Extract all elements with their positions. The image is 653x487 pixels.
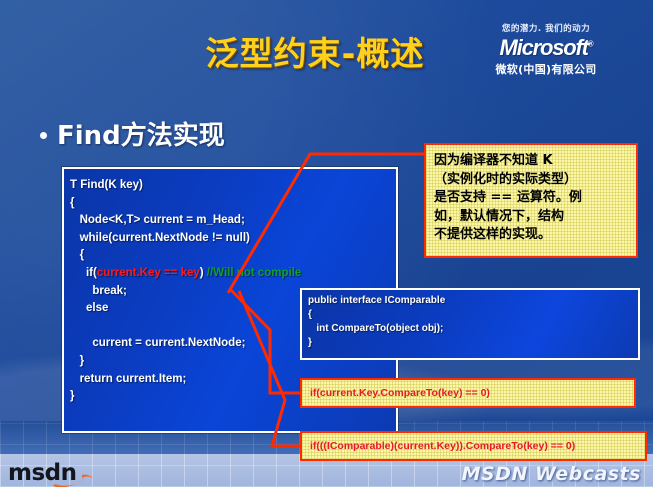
snippet-callout-1: if(current.Key.CompareTo(key) == 0) [300,378,636,408]
snippet-callout-2: if(((IComparable)(current.Key)).CompareT… [300,431,647,461]
code-token: if( [70,267,97,279]
registered-mark-icon: ® [588,40,593,49]
explanation-callout-line: 因为编译器不知道 K [434,152,630,171]
microsoft-logo: Microsoft® [461,37,631,59]
explanation-callout-text: 因为编译器不知道 K（实例化时的实际类型）是否支持 == 运算符。例如，默认情况… [434,152,630,245]
msdn-webcasts-label: MSDN Webcasts [462,463,641,485]
interface-definition-text: public interface IComparable { int Compa… [302,290,638,350]
explanation-callout: 因为编译器不知道 K（实例化时的实际类型）是否支持 == 运算符。例如，默认情况… [424,143,638,258]
bullet-dot-icon [40,132,47,139]
code-token: ) [200,267,207,279]
slide-canvas: 泛型约束-概述 您的潜力. 我们的动力 Microsoft® 微软(中国)有限公… [0,0,653,487]
explanation-callout-line: 如，默认情况下，结构 [434,208,630,227]
explanation-callout-line: 是否支持 == 运算符。例 [434,189,630,208]
snippet-callout-2-text: if(((IComparable)(current.Key)).CompareT… [310,440,575,452]
code-token: //Will not compile [207,267,301,279]
snippet-callout-1-text: if(current.Key.CompareTo(key) == 0) [310,387,490,399]
explanation-callout-line: 不提供这样的实现。 [434,226,630,245]
microsoft-brand-block: 您的潜力. 我们的动力 Microsoft® 微软(中国)有限公司 [461,22,631,77]
slide-title: 泛型约束-概述 [150,27,480,75]
msdn-logo: msdn [8,462,77,485]
msdn-swoosh-icon [52,473,94,487]
interface-definition-box: public interface IComparable { int Compa… [300,288,640,360]
bullet-item-label: Find方法实现 [57,115,225,152]
brand-tagline: 您的潜力. 我们的动力 [461,22,631,34]
brand-subtitle: 微软(中国)有限公司 [461,61,631,77]
code-token: current.Key == key [97,267,200,279]
microsoft-logo-text: Microsoft [500,35,588,60]
bullet-item: Find方法实现 [40,115,225,152]
explanation-callout-line: （实例化时的实际类型） [434,171,630,190]
